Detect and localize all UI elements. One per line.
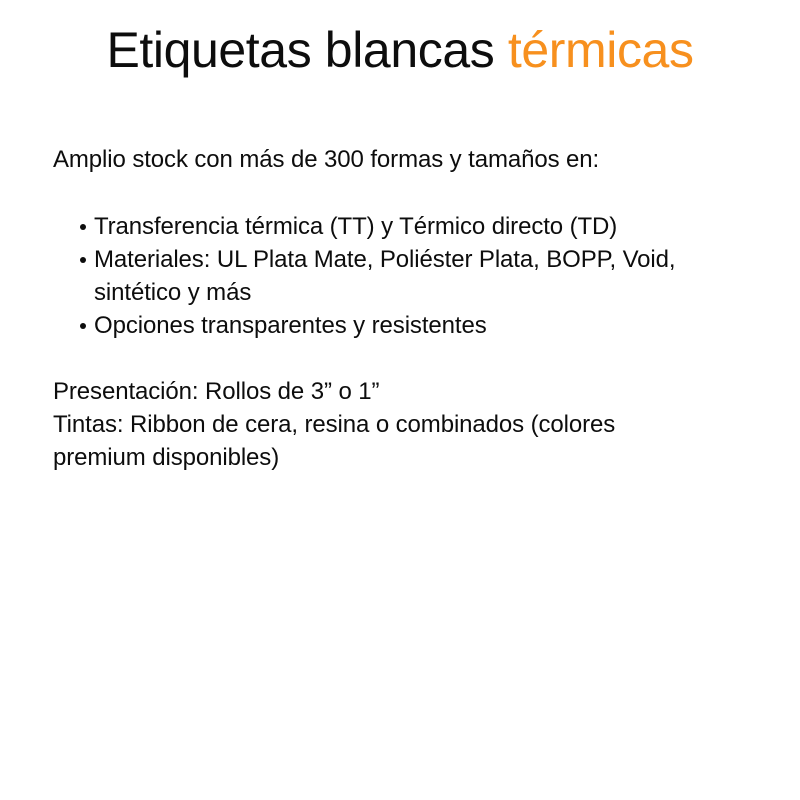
- closing-paragraph: Presentación: Rollos de 3” o 1” Tintas: …: [53, 375, 713, 474]
- feature-bullet-list: Transferencia térmica (TT) y Térmico dir…: [53, 210, 733, 342]
- intro-paragraph: Amplio stock con más de 300 formas y tam…: [53, 143, 733, 176]
- body-content: Amplio stock con más de 300 formas y tam…: [53, 143, 733, 474]
- title-heading: Etiquetas blancas térmicas: [0, 18, 800, 82]
- list-item: Materiales: UL Plata Mate, Poliéster Pla…: [53, 243, 719, 309]
- list-item: Transferencia térmica (TT) y Térmico dir…: [53, 210, 719, 243]
- inks-line: Tintas: Ribbon de cera, resina o combina…: [53, 408, 713, 474]
- title-accent-text: [494, 22, 508, 78]
- title-accent-word: térmicas: [508, 22, 694, 78]
- title-primary-text: Etiquetas blancas: [106, 22, 494, 78]
- slide-canvas: Etiquetas blancas térmicas Amplio stock …: [0, 0, 800, 800]
- page-title: Etiquetas blancas térmicas: [0, 18, 800, 82]
- presentation-line: Presentación: Rollos de 3” o 1”: [53, 375, 713, 408]
- list-item: Opciones transparentes y resistentes: [53, 309, 719, 342]
